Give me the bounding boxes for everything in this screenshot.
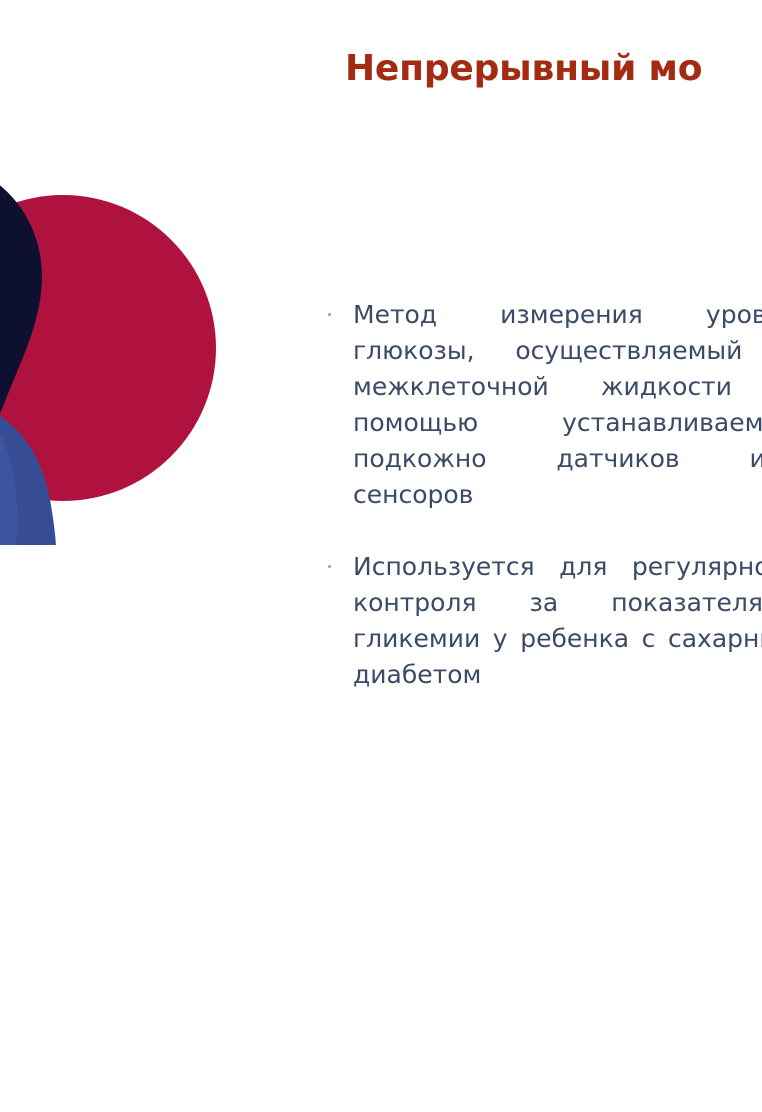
bullet-text: Используется для регулярного контроля за… <box>353 549 762 729</box>
list-item: Используется для регулярного контроля за… <box>325 549 762 729</box>
slide-canvas: Непрерывный мо <box>0 0 762 1112</box>
list-item: Метод измерения уровня глюкозы, осуществ… <box>325 297 762 549</box>
woman-profile-illustration <box>0 148 218 548</box>
bullet-dot-icon <box>328 313 331 316</box>
body-text-block: Метод измерения уровня глюкозы, осуществ… <box>325 297 762 729</box>
slide-title: Непрерывный мо <box>345 47 762 91</box>
bullet-text: Метод измерения уровня глюкозы, осуществ… <box>353 297 762 549</box>
bullet-dot-icon <box>328 565 331 568</box>
